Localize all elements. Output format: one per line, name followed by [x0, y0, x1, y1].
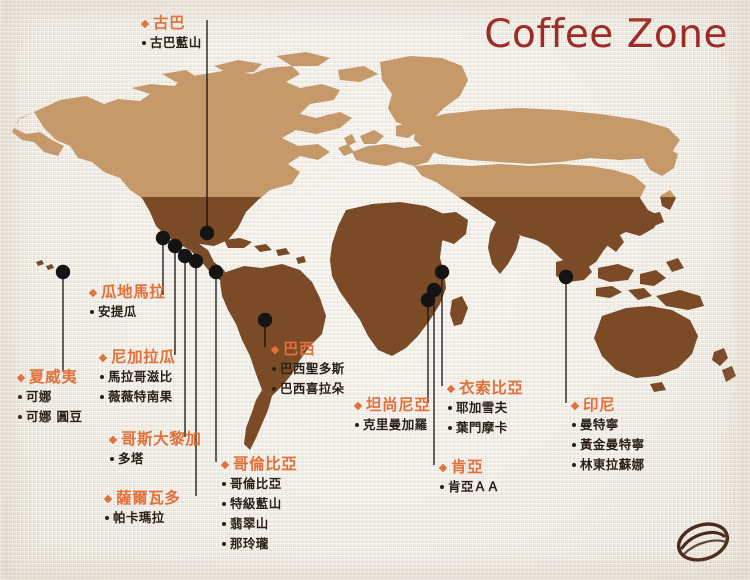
variety-item[interactable]: 那玲瓏: [222, 534, 297, 554]
region-heading-el-salvador[interactable]: 薩爾瓦多: [105, 489, 180, 508]
region-name-nicaragua: 尼加拉瓜: [111, 348, 175, 367]
diamond-bullet-icon: [141, 19, 149, 27]
region-group-hawaii: 夏威夷可娜可娜 圓豆: [18, 368, 82, 427]
variety-label: 哥倫比亞: [230, 474, 282, 494]
variety-item[interactable]: 哥倫比亞: [222, 474, 297, 494]
diamond-bullet-icon: [271, 345, 279, 353]
marker-hawaii[interactable]: [56, 265, 70, 279]
marker-colombia[interactable]: [209, 265, 223, 279]
region-name-brazil: 巴西: [283, 340, 315, 359]
region-group-el-salvador: 薩爾瓦多帕卡瑪拉: [105, 489, 180, 528]
variety-label: 薇薇特南果: [108, 387, 173, 407]
variety-item[interactable]: 安提瓜: [90, 302, 165, 322]
variety-label: 特級藍山: [230, 494, 282, 514]
variety-item[interactable]: 黃金曼特寧: [572, 435, 645, 455]
diamond-bullet-icon: [17, 373, 25, 381]
round-bullet-icon: [355, 423, 359, 427]
variety-item[interactable]: 翡翠山: [222, 514, 297, 534]
region-group-cuba: 古巴古巴藍山: [142, 14, 202, 53]
region-heading-kenya[interactable]: 肯亞: [440, 458, 500, 477]
round-bullet-icon: [100, 395, 104, 399]
infographic-canvas: Coffee Zone 古巴古巴藍山夏威夷可娜可娜 圓豆瓜地馬拉安提瓜尼加拉瓜馬…: [0, 0, 750, 580]
round-bullet-icon: [272, 367, 276, 371]
variety-label: 可娜: [26, 387, 52, 407]
variety-label: 肯亞ＡＡ: [448, 477, 500, 497]
round-bullet-icon: [18, 395, 22, 399]
region-heading-brazil[interactable]: 巴西: [272, 340, 345, 359]
region-heading-costa-rica[interactable]: 哥斯大黎加: [110, 430, 202, 449]
variety-item[interactable]: 古巴藍山: [142, 33, 202, 53]
region-group-tanzania: 坦尚尼亞克里曼加羅: [355, 396, 430, 435]
variety-label: 巴西喜拉朵: [280, 379, 345, 399]
variety-item[interactable]: 馬拉哥滋比: [100, 367, 175, 387]
variety-label: 多塔: [118, 449, 144, 469]
variety-item[interactable]: 可娜: [18, 387, 82, 407]
diamond-bullet-icon: [571, 401, 579, 409]
variety-item[interactable]: 葉門摩卡: [448, 418, 523, 438]
region-name-cuba: 古巴: [153, 14, 185, 33]
region-name-indonesia: 印尼: [583, 396, 615, 415]
variety-item[interactable]: 可娜 圓豆: [18, 407, 82, 427]
region-heading-cuba[interactable]: 古巴: [142, 14, 202, 33]
round-bullet-icon: [448, 426, 452, 430]
variety-label: 葉門摩卡: [456, 418, 508, 438]
variety-item[interactable]: 肯亞ＡＡ: [440, 477, 500, 497]
diamond-bullet-icon: [89, 288, 97, 296]
region-name-kenya: 肯亞: [451, 458, 483, 477]
page-title: Coffee Zone: [484, 12, 728, 57]
diamond-bullet-icon: [354, 401, 362, 409]
round-bullet-icon: [222, 502, 226, 506]
round-bullet-icon: [90, 310, 94, 314]
variety-item[interactable]: 曼特寧: [572, 415, 645, 435]
marker-cuba[interactable]: [200, 226, 214, 240]
variety-label: 巴西聖多斯: [280, 359, 345, 379]
region-name-tanzania: 坦尚尼亞: [366, 396, 430, 415]
round-bullet-icon: [572, 443, 576, 447]
region-heading-ethiopia[interactable]: 衣索比亞: [448, 379, 523, 398]
round-bullet-icon: [18, 415, 22, 419]
region-name-hawaii: 夏威夷: [29, 368, 77, 387]
diamond-bullet-icon: [221, 460, 229, 468]
region-group-indonesia: 印尼曼特寧黃金曼特寧林東拉蘇娜: [572, 396, 645, 475]
round-bullet-icon: [440, 485, 444, 489]
region-heading-guatemala[interactable]: 瓜地馬拉: [90, 283, 165, 302]
variety-label: 耶加雪夫: [456, 398, 508, 418]
round-bullet-icon: [272, 387, 276, 391]
variety-label: 黃金曼特寧: [580, 435, 645, 455]
variety-label: 曼特寧: [580, 415, 619, 435]
region-name-guatemala: 瓜地馬拉: [101, 283, 165, 302]
variety-label: 克里曼加羅: [363, 415, 428, 435]
marker-el-salvador[interactable]: [189, 254, 203, 268]
region-name-ethiopia: 衣索比亞: [459, 379, 523, 398]
variety-label: 翡翠山: [230, 514, 269, 534]
region-heading-indonesia[interactable]: 印尼: [572, 396, 645, 415]
variety-item[interactable]: 特級藍山: [222, 494, 297, 514]
variety-item[interactable]: 帕卡瑪拉: [105, 508, 180, 528]
diamond-bullet-icon: [109, 435, 117, 443]
variety-label: 安提瓜: [98, 302, 137, 322]
round-bullet-icon: [142, 41, 146, 45]
variety-label: 古巴藍山: [150, 33, 202, 53]
coffee-bean-icon: [672, 516, 734, 568]
round-bullet-icon: [222, 482, 226, 486]
region-group-costa-rica: 哥斯大黎加多塔: [110, 430, 202, 469]
region-group-nicaragua: 尼加拉瓜馬拉哥滋比薇薇特南果: [100, 348, 175, 407]
variety-label: 帕卡瑪拉: [113, 508, 165, 528]
diamond-bullet-icon: [104, 494, 112, 502]
variety-label: 可娜 圓豆: [26, 407, 82, 427]
variety-item[interactable]: 薇薇特南果: [100, 387, 175, 407]
diamond-bullet-icon: [439, 463, 447, 471]
region-heading-colombia[interactable]: 哥倫比亞: [222, 455, 297, 474]
region-group-colombia: 哥倫比亞哥倫比亞特級藍山翡翠山那玲瓏: [222, 455, 297, 554]
marker-brazil[interactable]: [258, 313, 272, 327]
marker-indonesia[interactable]: [559, 270, 573, 284]
variety-item[interactable]: 多塔: [110, 449, 202, 469]
diamond-bullet-icon: [99, 353, 107, 361]
marker-kenya[interactable]: [427, 283, 441, 297]
variety-label: 林東拉蘇娜: [580, 455, 645, 475]
variety-item[interactable]: 林東拉蘇娜: [572, 455, 645, 475]
region-group-kenya: 肯亞肯亞ＡＡ: [440, 458, 500, 497]
round-bullet-icon: [105, 516, 109, 520]
diamond-bullet-icon: [447, 384, 455, 392]
region-group-brazil: 巴西巴西聖多斯巴西喜拉朵: [272, 340, 345, 399]
marker-ethiopia[interactable]: [435, 265, 449, 279]
region-name-el-salvador: 薩爾瓦多: [116, 489, 180, 508]
region-group-ethiopia: 衣索比亞耶加雪夫葉門摩卡: [448, 379, 523, 438]
region-heading-nicaragua[interactable]: 尼加拉瓜: [100, 348, 175, 367]
region-group-guatemala: 瓜地馬拉安提瓜: [90, 283, 165, 322]
variety-item[interactable]: 耶加雪夫: [448, 398, 523, 418]
round-bullet-icon: [448, 406, 452, 410]
variety-item[interactable]: 巴西聖多斯: [272, 359, 345, 379]
round-bullet-icon: [222, 542, 226, 546]
variety-label: 馬拉哥滋比: [108, 367, 173, 387]
region-name-costa-rica: 哥斯大黎加: [121, 430, 202, 449]
variety-item[interactable]: 克里曼加羅: [355, 415, 430, 435]
round-bullet-icon: [100, 375, 104, 379]
round-bullet-icon: [110, 457, 114, 461]
round-bullet-icon: [572, 423, 576, 427]
region-heading-hawaii[interactable]: 夏威夷: [18, 368, 82, 387]
region-heading-tanzania[interactable]: 坦尚尼亞: [355, 396, 430, 415]
marker-guatemala[interactable]: [156, 231, 170, 245]
round-bullet-icon: [572, 463, 576, 467]
region-name-colombia: 哥倫比亞: [233, 455, 297, 474]
variety-label: 那玲瓏: [230, 534, 269, 554]
variety-item[interactable]: 巴西喜拉朵: [272, 379, 345, 399]
round-bullet-icon: [222, 522, 226, 526]
